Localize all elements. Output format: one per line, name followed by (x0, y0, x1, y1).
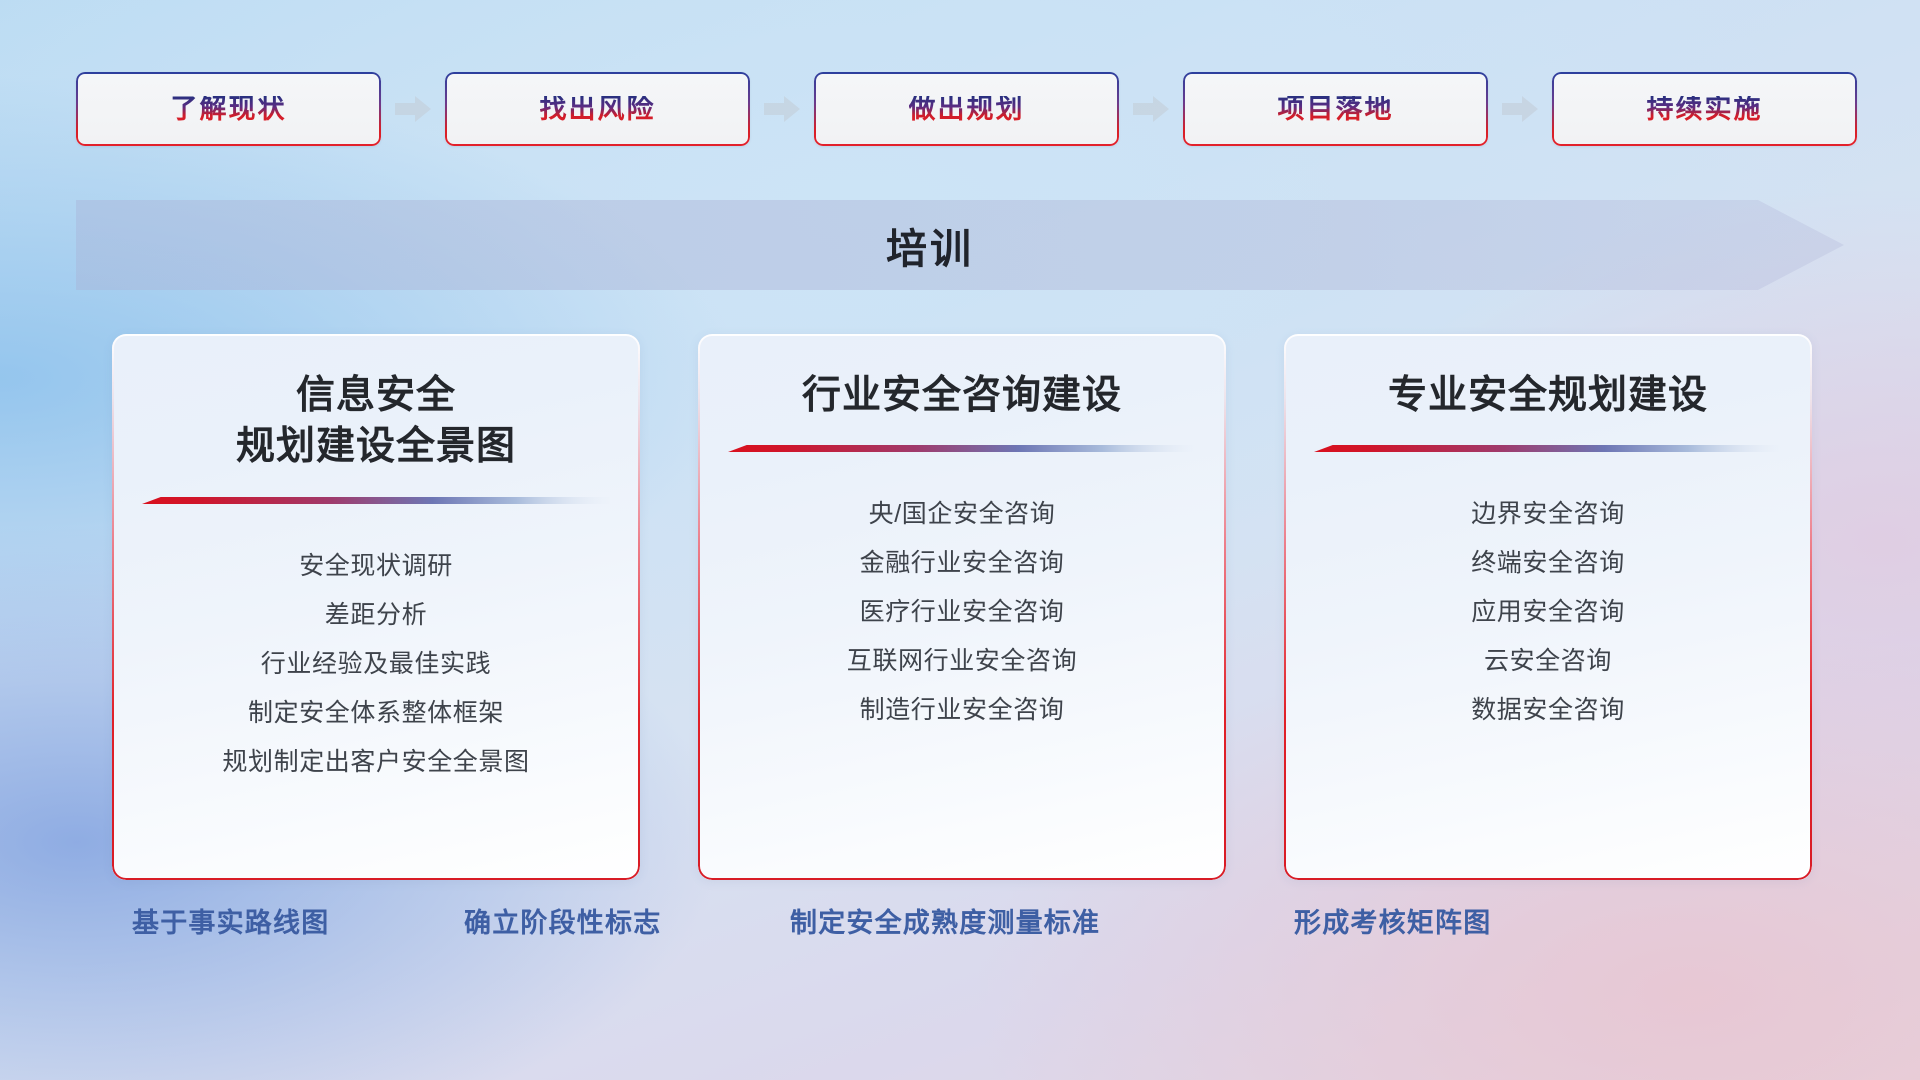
caption-4: 形成考核矩阵图 (1294, 910, 1491, 937)
list-item: 制造行业安全咨询 (728, 686, 1196, 735)
list-item: 数据安全咨询 (1314, 686, 1782, 735)
flow-step-1[interactable]: 了解现状 (76, 72, 381, 146)
caption-row: 基于事实路线图 确立阶段性标志 制定安全成熟度测量标准 形成考核矩阵图 (0, 910, 1920, 970)
list-item: 边界安全咨询 (1314, 490, 1782, 539)
caption-1: 基于事实路线图 (132, 910, 329, 937)
card-industry-security-consulting[interactable]: 行业安全咨询建设 (698, 334, 1226, 880)
list-item: 应用安全咨询 (1314, 588, 1782, 637)
list-item: 金融行业安全咨询 (728, 539, 1196, 588)
flow-step-4-label: 项目落地 (1278, 96, 1394, 123)
list-item: 互联网行业安全咨询 (728, 637, 1196, 686)
flow-step-4[interactable]: 项目落地 (1183, 72, 1488, 146)
card-divider (1314, 443, 1782, 456)
list-item: 央/国企安全咨询 (728, 490, 1196, 539)
card-item-list: 边界安全咨询 终端安全咨询 应用安全咨询 云安全咨询 数据安全咨询 (1314, 490, 1782, 735)
card-title: 行业安全咨询建设 (802, 370, 1122, 421)
card-information-security-blueprint[interactable]: 信息安全 规划建设全景图 (112, 334, 640, 880)
flow-step-3-label: 做出规划 (909, 96, 1025, 123)
arrow-right-icon (395, 94, 431, 124)
card-title: 专业安全规划建设 (1388, 370, 1708, 421)
list-item: 规划制定出客户安全全景图 (142, 738, 610, 787)
arrow-right-icon (1133, 94, 1169, 124)
card-divider (728, 443, 1196, 456)
caption-3: 制定安全成熟度测量标准 (790, 910, 1100, 937)
list-item: 医疗行业安全咨询 (728, 588, 1196, 637)
process-flow: 了解现状 找出风险 做出规划 项目落地 (76, 68, 1844, 150)
list-item: 制定安全体系整体框架 (142, 689, 610, 738)
flow-step-5-label: 持续实施 (1647, 96, 1763, 123)
arrow-right-icon (764, 94, 800, 124)
list-item: 行业经验及最佳实践 (142, 640, 610, 689)
flow-step-3[interactable]: 做出规划 (814, 72, 1119, 146)
banner-title: 培训 (76, 200, 1844, 290)
caption-2: 确立阶段性标志 (464, 910, 661, 937)
card-group: 信息安全 规划建设全景图 (112, 334, 1812, 880)
card-professional-security-planning[interactable]: 专业安全规划建设 (1284, 334, 1812, 880)
list-item: 云安全咨询 (1314, 637, 1782, 686)
card-item-list: 央/国企安全咨询 金融行业安全咨询 医疗行业安全咨询 互联网行业安全咨询 制造行… (728, 490, 1196, 735)
list-item: 终端安全咨询 (1314, 539, 1782, 588)
arrow-right-icon (1502, 94, 1538, 124)
slide-canvas: 了解现状 找出风险 做出规划 项目落地 (0, 0, 1920, 1080)
training-banner: 培训 (76, 200, 1844, 290)
flow-step-2[interactable]: 找出风险 (445, 72, 750, 146)
list-item: 安全现状调研 (142, 542, 610, 591)
list-item: 差距分析 (142, 591, 610, 640)
flow-step-5[interactable]: 持续实施 (1552, 72, 1857, 146)
card-divider (142, 495, 610, 508)
card-title: 信息安全 规划建设全景图 (236, 370, 516, 473)
card-item-list: 安全现状调研 差距分析 行业经验及最佳实践 制定安全体系整体框架 规划制定出客户… (142, 542, 610, 787)
flow-step-1-label: 了解现状 (171, 96, 287, 123)
flow-step-2-label: 找出风险 (540, 96, 656, 123)
